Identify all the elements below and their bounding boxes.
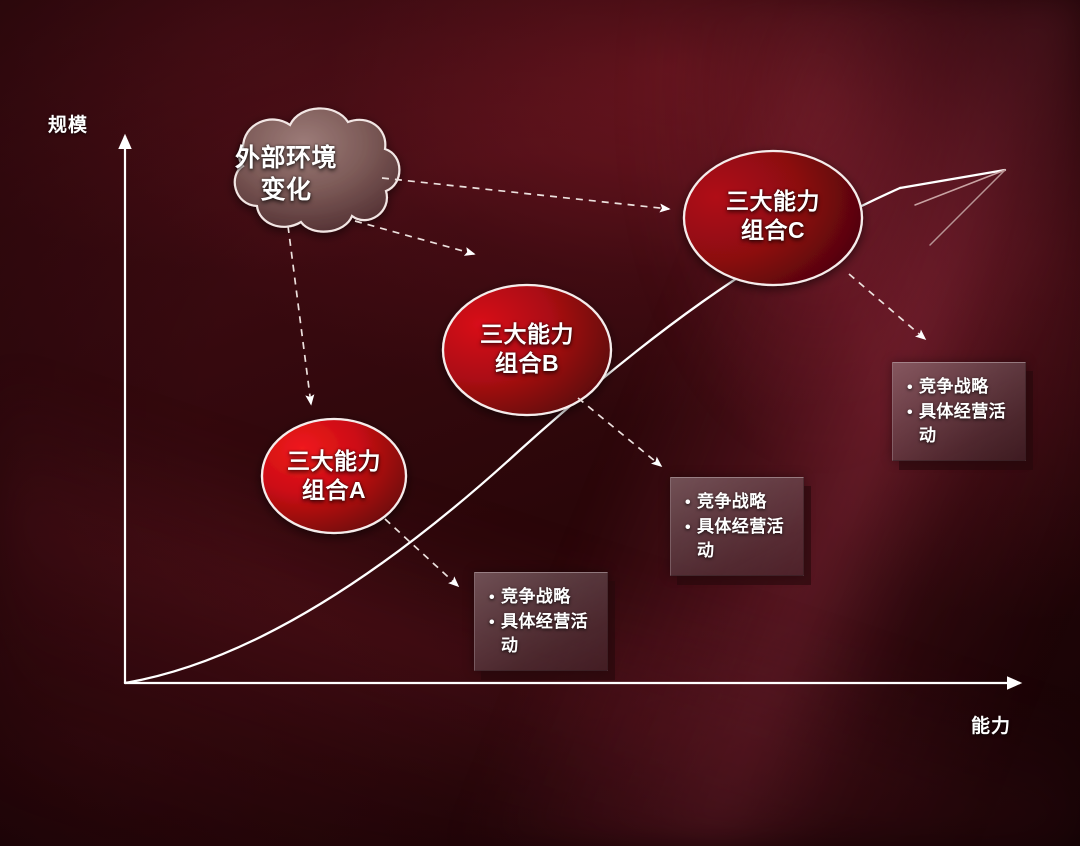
callout-a-item-1: 具体经营活动 bbox=[501, 610, 597, 658]
connector-cloud-to-ellipse-a bbox=[288, 226, 311, 404]
callout-a-item-0: 竞争战略 bbox=[501, 585, 571, 609]
connector-cloud-to-ellipse-c bbox=[382, 178, 669, 209]
callout-b-list: • 竞争战略 • 具体经营活动 bbox=[685, 490, 793, 563]
diagram-canvas: 规模 能力 外部环境 变化 三大能力 组合C 三大能力 组合B 三大能力 组合A… bbox=[0, 0, 1080, 846]
list-item: • 竞争战略 bbox=[685, 490, 793, 515]
node-ellipse-a-shape[interactable] bbox=[262, 419, 406, 533]
callout-c-list: • 竞争战略 • 具体经营活动 bbox=[907, 375, 1015, 448]
connector-cloud-to-ellipse-b bbox=[355, 221, 474, 254]
connector-ellipse-c-to-callout-c bbox=[849, 274, 925, 339]
node-ellipse-c-shape[interactable] bbox=[684, 151, 862, 285]
list-item: • 竞争战略 bbox=[489, 585, 597, 610]
list-item: • 具体经营活动 bbox=[907, 400, 1015, 448]
callout-a-list: • 竞争战略 • 具体经营活动 bbox=[489, 585, 597, 658]
node-cloud-shape[interactable] bbox=[235, 108, 400, 231]
node-ellipse-b-shape[interactable] bbox=[443, 285, 611, 415]
list-item: • 具体经营活动 bbox=[489, 610, 597, 658]
callout-b-item-0: 竞争战略 bbox=[697, 490, 767, 514]
bullet-icon: • bbox=[907, 402, 919, 425]
growth-arrow-barb-upper bbox=[915, 170, 1005, 205]
list-item: • 具体经营活动 bbox=[685, 515, 793, 563]
callout-c-item-1: 具体经营活动 bbox=[919, 400, 1015, 448]
callout-box-b[interactable]: • 竞争战略 • 具体经营活动 bbox=[670, 477, 804, 576]
bullet-icon: • bbox=[489, 612, 501, 635]
list-item: • 竞争战略 bbox=[907, 375, 1015, 400]
callout-box-a[interactable]: • 竞争战略 • 具体经营活动 bbox=[474, 572, 608, 671]
bullet-icon: • bbox=[685, 517, 697, 540]
bullet-icon: • bbox=[685, 492, 697, 515]
bullet-icon: • bbox=[489, 587, 501, 610]
bullet-icon: • bbox=[907, 377, 919, 400]
callout-c-item-0: 竞争战略 bbox=[919, 375, 989, 399]
callout-box-c[interactable]: • 竞争战略 • 具体经营活动 bbox=[892, 362, 1026, 461]
connector-ellipse-b-to-callout-b bbox=[578, 398, 661, 466]
callout-b-item-1: 具体经营活动 bbox=[697, 515, 793, 563]
